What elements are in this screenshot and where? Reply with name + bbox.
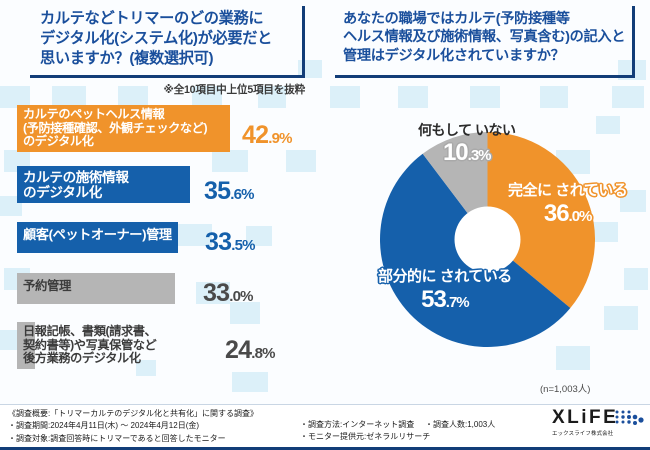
bar-value: 33.5% xyxy=(205,230,255,255)
bar-value-integer: 42 xyxy=(242,121,268,149)
bar-value-integer: 33 xyxy=(203,279,229,307)
donut-label-none-line-2: いない xyxy=(475,122,516,138)
donut-label-complete: 完全に されている 36.0% xyxy=(508,182,627,228)
left-question-title: カルテなどトリマーのどの業務に デジタル化(システム化)が必要だと 思いますか？… xyxy=(30,6,305,78)
donut-value-complete: 36 xyxy=(544,200,569,227)
bar-row: 顧客(ペットオーナー)管理33.5% xyxy=(17,222,317,253)
background-square xyxy=(612,86,644,108)
donut-label-partial-line-1: 部分的に xyxy=(378,268,436,285)
bar-label-line: 予約管理 xyxy=(23,280,71,294)
survey-method: ・調査方法:インターネット調査 xyxy=(300,419,430,431)
bar-label: カルテの施術情報のデジタル化 xyxy=(23,170,129,200)
donut-label-complete-line-1: 完全に xyxy=(508,182,552,199)
left-excerpt-note: ※全10項目中上位5項目を抜粋 xyxy=(30,82,305,97)
left-title-line-3: 思いますか？(複数選択可) xyxy=(40,49,294,69)
bar-label-line: 後方業務のデジタル化 xyxy=(23,352,156,366)
left-title-line-2: デジタル化(システム化)が必要だと xyxy=(40,29,294,49)
survey-overview-heading: 《調査概要:「トリマーカルテのデジタル化と共有化」に関する調査》 xyxy=(8,408,258,420)
horizontal-bar-chart: カルテのペットヘルス情報(予防接種確認、外観チェックなど)のデジタル化42.9%… xyxy=(0,100,320,372)
donut-value-none-dec: .3% xyxy=(468,147,491,164)
bar-value: 24.8% xyxy=(225,338,275,363)
left-title-line-1: カルテなどトリマーのどの業務に xyxy=(40,9,294,29)
donut-label-complete-line-2: されている xyxy=(555,182,627,199)
survey-count: ・調査人数:1,003人 xyxy=(425,419,495,431)
bar-value-decimal: .0% xyxy=(229,288,252,305)
background-square xyxy=(624,268,648,290)
bar-label-line: のデジタル化 xyxy=(23,135,207,149)
donut-value-complete-dec: .0% xyxy=(569,208,592,225)
bar-label: 予約管理 xyxy=(23,280,71,294)
bar-label: 日報記帳、書類(請求書、契約書等)や写真保管など後方業務のデジタル化 xyxy=(23,325,156,366)
donut-label-none-line-1: 何もして xyxy=(418,122,472,138)
bar-label-line: 日報記帳、書類(請求書、 xyxy=(23,325,156,339)
bar-value-decimal: .8% xyxy=(251,345,274,362)
bar-row: カルテの施術情報のデジタル化35.6% xyxy=(17,166,317,203)
right-title-line-2: ヘルス情報及び施術情報、写真含む)の記入と xyxy=(343,28,624,46)
survey-overview-column: 《調査概要:「トリマーカルテのデジタル化と共有化」に関する調査》 ・調査期間:2… xyxy=(8,408,258,445)
bar-label-line: カルテの施術情報 xyxy=(23,170,129,185)
bar-value-decimal: .5% xyxy=(231,237,254,254)
bar-value-integer: 24 xyxy=(225,336,251,364)
bar-row: カルテのペットヘルス情報(予防接種確認、外観チェックなど)のデジタル化42.9% xyxy=(17,105,317,152)
logo-dots-icon xyxy=(614,409,644,429)
survey-period: ・調査期間:2024年4月11日(木) ～ 2024年4月12日(金) xyxy=(8,420,258,432)
bar-value-integer: 33 xyxy=(205,228,231,256)
background-square xyxy=(604,306,638,330)
right-title-line-1: あなたの職場ではカルテ(予防接種等 xyxy=(343,10,624,28)
donut-value-partial-dec: .7% xyxy=(446,294,469,311)
right-question-title: あなたの職場ではカルテ(予防接種等 ヘルス情報及び施術情報、写真含む)の記入と … xyxy=(335,6,635,78)
background-square xyxy=(330,86,360,108)
survey-count-column: ・調査人数:1,003人 xyxy=(425,419,495,431)
sample-size-note: (n=1,003人) xyxy=(540,381,590,395)
infographic-canvas: カルテなどトリマーのどの業務に デジタル化(システム化)が必要だと 思いますか？… xyxy=(0,0,650,450)
bar-row: 日報記帳、書類(請求書、契約書等)や写真保管など後方業務のデジタル化24.8% xyxy=(17,322,317,369)
bar-value-integer: 35 xyxy=(204,177,230,205)
donut-label-none: 何もして いない 10.3% xyxy=(418,122,515,167)
background-square xyxy=(470,86,500,108)
background-square xyxy=(556,346,590,370)
survey-target: ・調査対象:調査回答時にトリマーであると回答したモニター xyxy=(8,433,258,445)
bar-label-line: カルテのペットヘルス情報 xyxy=(23,108,207,122)
right-title-line-3: 管理はデジタル化されていますか？ xyxy=(343,47,624,65)
monitor-provider: ・モニター提供元:ゼネラルリサーチ xyxy=(300,431,430,443)
bar-value-decimal: .6% xyxy=(230,186,253,203)
bar-label: 顧客(ペットオーナー)管理 xyxy=(23,228,172,243)
bar-value: 35.6% xyxy=(204,179,254,204)
donut-label-partial-line-2: されている xyxy=(440,268,512,285)
survey-method-column: ・調査方法:インターネット調査 ・モニター提供元:ゼネラルリサーチ xyxy=(300,419,430,444)
background-square xyxy=(540,86,568,108)
background-square xyxy=(596,116,620,134)
bar-value: 33.0% xyxy=(203,281,253,306)
background-square xyxy=(398,86,428,108)
background-square xyxy=(232,372,268,392)
donut-label-partial: 部分的に されている 53.7% xyxy=(378,268,512,314)
donut-value-partial: 53 xyxy=(421,286,446,313)
bar-value-decimal: .9% xyxy=(268,130,291,147)
bar-label-line: 顧客(ペットオーナー)管理 xyxy=(23,228,172,243)
bar-row: 予約管理33.0% xyxy=(17,273,317,304)
donut-value-none: 10 xyxy=(443,139,468,166)
xlife-subtitle: エックスライフ株式会社 xyxy=(552,429,644,437)
xlife-logo: XLiFE エックスライフ株式会社 xyxy=(552,408,644,444)
bar-label-line: のデジタル化 xyxy=(23,185,129,200)
bar-label: カルテのペットヘルス情報(予防接種確認、外観チェックなど)のデジタル化 xyxy=(23,108,207,149)
bar-value: 42.9% xyxy=(242,123,292,148)
